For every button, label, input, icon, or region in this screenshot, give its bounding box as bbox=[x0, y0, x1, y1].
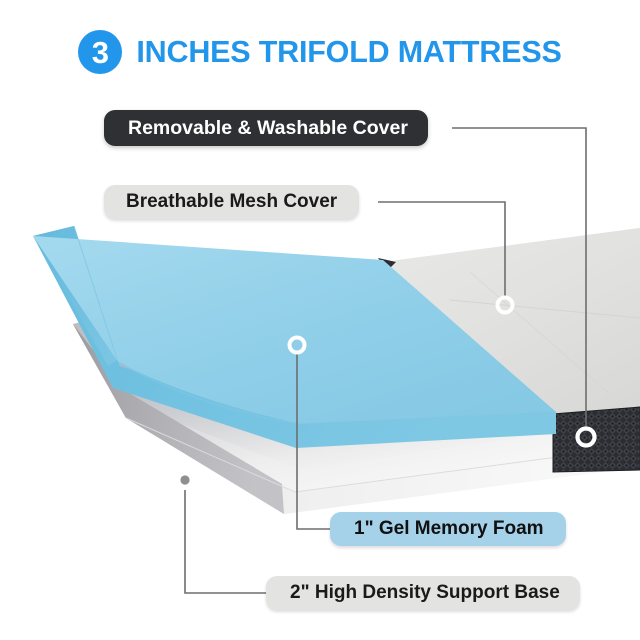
mesh-side-panel bbox=[553, 407, 640, 472]
marker-high-density-support-base-core bbox=[180, 475, 189, 484]
infographic-canvas: 3 INCHES TRIFOLD MATTRESS bbox=[0, 0, 640, 640]
callout-label-text: 1" Gel Memory Foam bbox=[354, 518, 544, 540]
callout-label-breathable-mesh-cover[interactable]: Breathable Mesh Cover bbox=[104, 185, 359, 219]
callout-label-high-density-support-base[interactable]: 2" High Density Support Base bbox=[266, 576, 580, 610]
callout-label-text: Removable & Washable Cover bbox=[128, 117, 408, 140]
callout-label-text: Breathable Mesh Cover bbox=[126, 191, 337, 213]
callout-label-text: 2" High Density Support Base bbox=[290, 582, 560, 604]
callout-label-gel-memory-foam[interactable]: 1" Gel Memory Foam bbox=[330, 512, 566, 546]
callout-label-removable-washable-cover[interactable]: Removable & Washable Cover bbox=[104, 110, 428, 146]
